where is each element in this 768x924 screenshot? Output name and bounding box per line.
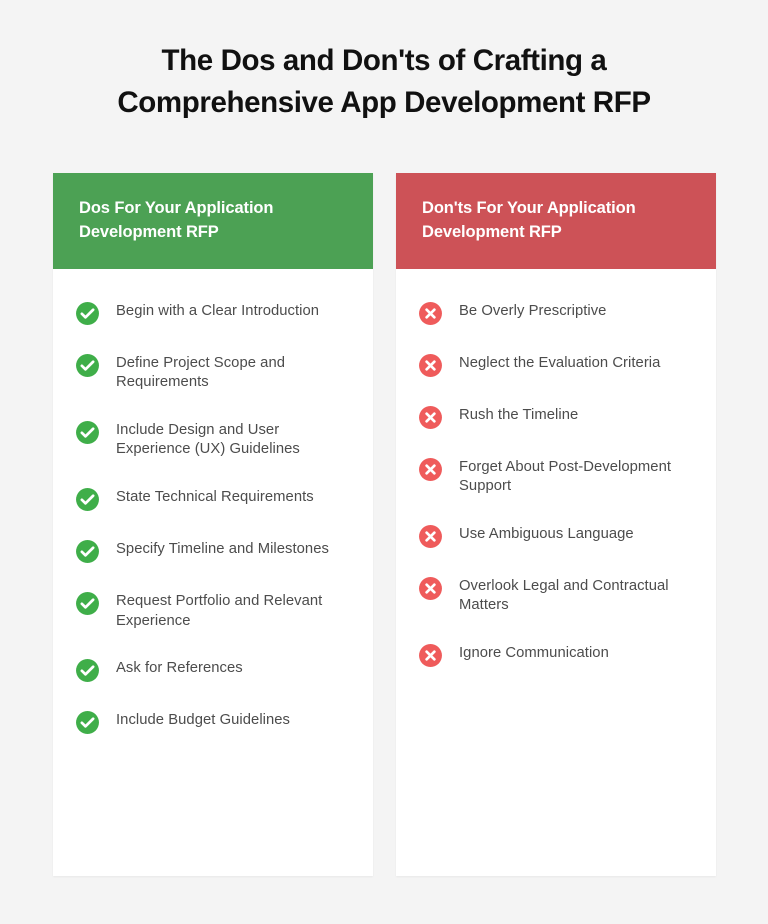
list-item[interactable]: Include Budget Guidelines [75,696,351,748]
dos-card-body: Begin with a Clear Introduction Define P… [53,269,373,876]
list-item-label: Include Budget Guidelines [116,709,290,731]
list-item-label: Use Ambiguous Language [459,523,634,545]
donts-header-title: Don'ts For Your Application Development … [422,197,692,245]
list-item-label: Overlook Legal and Contractual Matters [459,575,694,616]
dos-item-list: Begin with a Clear Introduction Define P… [75,287,351,748]
list-item[interactable]: Begin with a Clear Introduction [75,287,351,339]
list-item[interactable]: Overlook Legal and Contractual Matters [418,562,694,629]
page-title: The Dos and Don'ts of Crafting a Compreh… [56,40,712,124]
list-item-label: Ignore Communication [459,642,609,664]
dos-card: Dos For Your Application Development RFP… [53,173,373,876]
donts-card-header: Don'ts For Your Application Development … [396,173,716,269]
donts-card: Don'ts For Your Application Development … [396,173,716,876]
cross-circle-icon [418,301,443,326]
list-item-label: Begin with a Clear Introduction [116,300,319,322]
title-section: The Dos and Don'ts of Crafting a Compreh… [0,0,768,124]
cross-circle-icon [418,643,443,668]
dos-header-title: Dos For Your Application Development RFP [79,197,349,245]
list-item[interactable]: Specify Timeline and Milestones [75,525,351,577]
list-item-label: Define Project Scope and Requirements [116,352,351,393]
cross-circle-icon [418,524,443,549]
check-circle-icon [75,710,100,735]
check-circle-icon [75,420,100,445]
check-circle-icon [75,487,100,512]
comparison-columns: Dos For Your Application Development RFP… [53,173,716,876]
list-item-label: Request Portfolio and Relevant Experienc… [116,590,351,631]
check-circle-icon [75,539,100,564]
list-item[interactable]: Be Overly Prescriptive [418,287,694,339]
list-item[interactable]: Ignore Communication [418,629,694,681]
list-item-label: Neglect the Evaluation Criteria [459,352,660,374]
list-item[interactable]: Include Design and User Experience (UX) … [75,406,351,473]
check-circle-icon [75,353,100,378]
donts-item-list: Be Overly Prescriptive Neglect the Evalu… [418,287,694,681]
infographic-page: The Dos and Don'ts of Crafting a Compreh… [0,0,768,924]
list-item-label: State Technical Requirements [116,486,314,508]
check-circle-icon [75,658,100,683]
list-item[interactable]: Use Ambiguous Language [418,510,694,562]
cross-circle-icon [418,405,443,430]
dos-card-header: Dos For Your Application Development RFP [53,173,373,269]
donts-card-body: Be Overly Prescriptive Neglect the Evalu… [396,269,716,876]
check-circle-icon [75,301,100,326]
cross-circle-icon [418,457,443,482]
list-item-label: Be Overly Prescriptive [459,300,606,322]
list-item-label: Include Design and User Experience (UX) … [116,419,351,460]
list-item[interactable]: Forget About Post-Development Support [418,443,694,510]
list-item[interactable]: Request Portfolio and Relevant Experienc… [75,577,351,644]
list-item[interactable]: Rush the Timeline [418,391,694,443]
list-item-label: Ask for References [116,657,243,679]
list-item[interactable]: Define Project Scope and Requirements [75,339,351,406]
list-item[interactable]: State Technical Requirements [75,473,351,525]
cross-circle-icon [418,353,443,378]
list-item-label: Specify Timeline and Milestones [116,538,329,560]
check-circle-icon [75,591,100,616]
cross-circle-icon [418,576,443,601]
list-item[interactable]: Ask for References [75,644,351,696]
list-item[interactable]: Neglect the Evaluation Criteria [418,339,694,391]
list-item-label: Forget About Post-Development Support [459,456,694,497]
list-item-label: Rush the Timeline [459,404,578,426]
